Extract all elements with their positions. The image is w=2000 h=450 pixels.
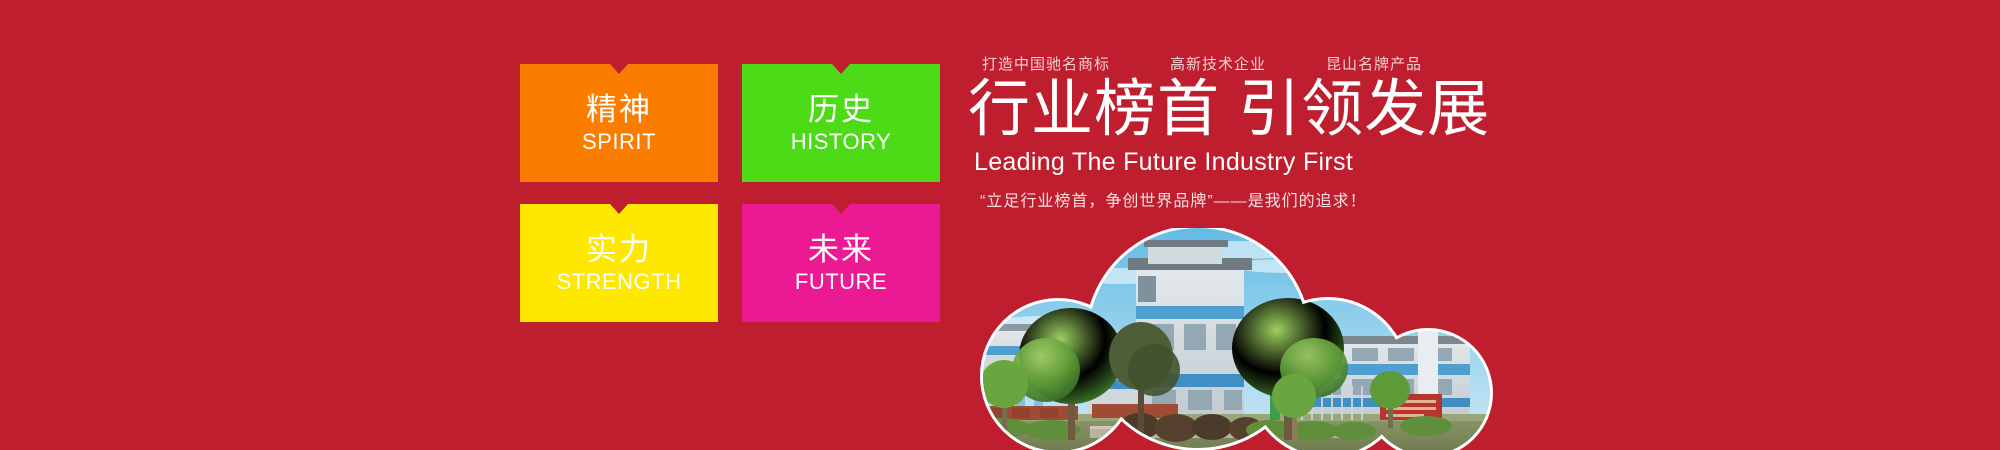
tagline-quote: “立足行业榜首，争创世界品牌”——是我们的追求！	[968, 190, 1688, 214]
tile-spirit-label-en: SPIRIT	[582, 129, 656, 155]
factory-photo-collage	[940, 228, 1500, 450]
tile-spirit[interactable]: 精神 SPIRIT	[520, 64, 718, 182]
value-tile-grid: 精神 SPIRIT 历史 HISTORY 实力 STRENGTH 未来 FUTU…	[520, 64, 940, 324]
tile-future-label-cn: 未来	[808, 232, 874, 268]
tile-history-label-cn: 历史	[808, 92, 874, 128]
tile-strength[interactable]: 实力 STRENGTH	[520, 204, 718, 322]
headline-text-block: 打造中国驰名商标 高新技术企业 昆山名牌产品 行业榜首 引领发展 Leading…	[968, 52, 1688, 214]
tile-history[interactable]: 历史 HISTORY	[742, 64, 940, 182]
notch-icon	[610, 64, 628, 74]
notch-icon	[832, 204, 850, 214]
tile-strength-label-cn: 实力	[586, 232, 652, 268]
collage-photo-content	[940, 228, 1500, 450]
subtitle-english: Leading The Future Industry First	[968, 146, 1688, 178]
tile-history-label-en: HISTORY	[791, 129, 892, 155]
collage-svg	[940, 228, 1500, 450]
page-title: 行业榜首 引领发展	[968, 76, 1688, 144]
notch-icon	[610, 204, 628, 214]
notch-icon	[832, 64, 850, 74]
tile-spirit-label-cn: 精神	[586, 92, 652, 128]
tile-future[interactable]: 未来 FUTURE	[742, 204, 940, 322]
tile-strength-label-en: STRENGTH	[557, 269, 682, 295]
tile-future-label-en: FUTURE	[795, 269, 887, 295]
promotional-banner: 精神 SPIRIT 历史 HISTORY 实力 STRENGTH 未来 FUTU…	[0, 0, 2000, 450]
